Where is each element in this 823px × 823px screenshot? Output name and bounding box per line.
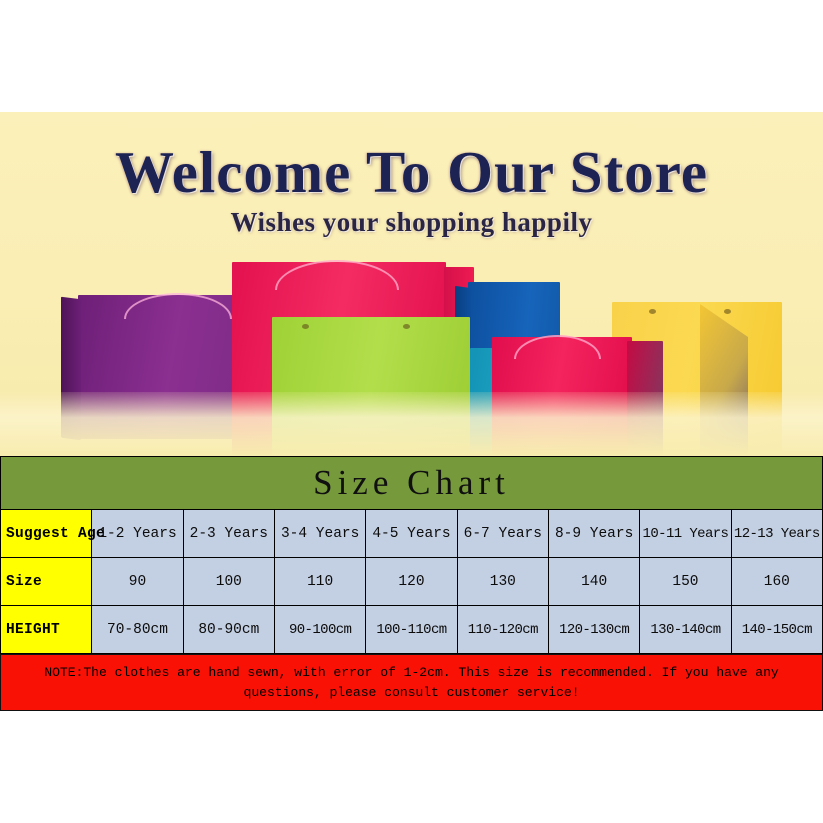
table-row-suggest-age: Suggest Age 1-2 Years 2-3 Years 3-4 Year… [1, 510, 823, 558]
cell-age-7: 10-11 Years [640, 510, 731, 558]
floor-gradient [0, 392, 823, 456]
cell-size-4: 120 [366, 558, 457, 606]
note-bar: NOTE:The clothes are hand sewn, with err… [0, 654, 823, 711]
chart-title: Size Chart [313, 463, 510, 502]
chart-title-row: Size Chart [1, 457, 823, 510]
store-banner: Welcome To Our Store Wishes your shoppin… [0, 112, 823, 456]
size-chart-page: Welcome To Our Store Wishes your shoppin… [0, 0, 823, 823]
row-label-size: Size [1, 558, 92, 606]
cell-height-3: 90-100cm [274, 606, 365, 654]
size-chart-table: Size Chart Suggest Age 1-2 Years 2-3 Yea… [0, 456, 823, 654]
bag-eyelet-icon [302, 324, 309, 329]
cell-age-4: 4-5 Years [366, 510, 457, 558]
cell-size-8: 160 [731, 558, 822, 606]
cell-height-2: 80-90cm [183, 606, 274, 654]
cell-age-1: 1-2 Years [92, 510, 183, 558]
cell-height-6: 120-130cm [548, 606, 639, 654]
cell-size-1: 90 [92, 558, 183, 606]
table-row-size: Size 90 100 110 120 130 140 150 160 [1, 558, 823, 606]
bag-eyelet-icon [403, 324, 410, 329]
cell-age-2: 2-3 Years [183, 510, 274, 558]
bag-handle-icon [275, 260, 399, 290]
cell-age-8: 12-13 Years [731, 510, 822, 558]
table-row-height: HEIGHT 70-80cm 80-90cm 90-100cm 100-110c… [1, 606, 823, 654]
cell-size-5: 130 [457, 558, 548, 606]
cell-size-2: 100 [183, 558, 274, 606]
cell-age-6: 8-9 Years [548, 510, 639, 558]
cell-age-5: 6-7 Years [457, 510, 548, 558]
cell-height-7: 130-140cm [640, 606, 731, 654]
banner-subtitle-text: Wishes your shopping happily [231, 207, 593, 237]
banner-subtitle: Wishes your shopping happily [0, 207, 823, 238]
row-label-suggest-age: Suggest Age [1, 510, 92, 558]
cell-height-5: 110-120cm [457, 606, 548, 654]
cell-height-1: 70-80cm [92, 606, 183, 654]
note-text: NOTE:The clothes are hand sewn, with err… [3, 663, 821, 703]
bag-handle-icon [124, 293, 232, 319]
chart-title-cell: Size Chart [1, 457, 823, 510]
size-chart-table-wrap: Size Chart Suggest Age 1-2 Years 2-3 Yea… [0, 456, 823, 654]
bag-eyelet-icon [724, 309, 731, 314]
banner-title: Welcome To Our Store [0, 138, 823, 207]
cell-size-6: 140 [548, 558, 639, 606]
row-label-height: HEIGHT [1, 606, 92, 654]
cell-height-4: 100-110cm [366, 606, 457, 654]
bag-eyelet-icon [649, 309, 656, 314]
cell-size-7: 150 [640, 558, 731, 606]
bag-handle-icon [514, 335, 601, 359]
cell-age-3: 3-4 Years [274, 510, 365, 558]
cell-height-8: 140-150cm [731, 606, 822, 654]
cell-size-3: 110 [274, 558, 365, 606]
